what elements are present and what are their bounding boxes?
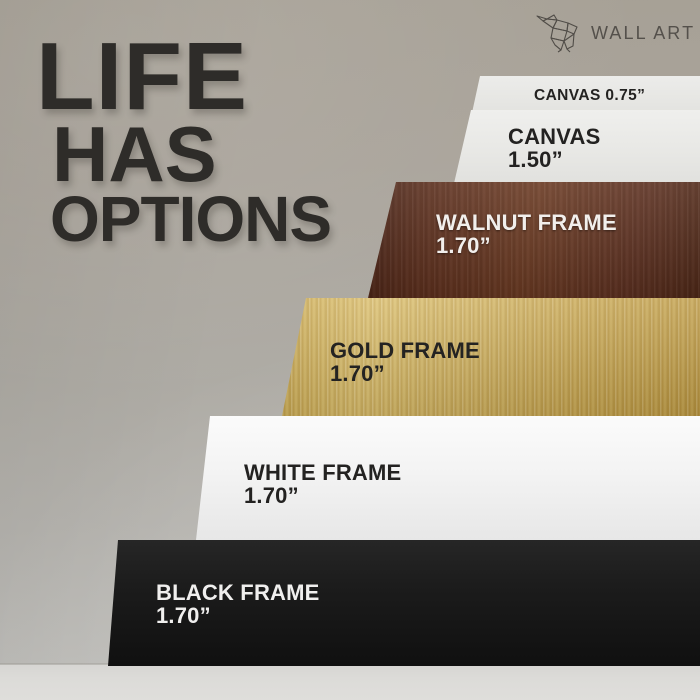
option-label-walnut-frame: WALNUT FRAME 1.70” [436,212,617,258]
product-options-infographic: WALL ART LIFE HAS OPTIONS CANVAS 0.75” C… [0,0,700,700]
option-slab-gold-frame[interactable]: GOLD FRAME 1.70” [282,298,700,416]
brand-name: WALL ART [591,23,695,44]
headline-line-2: HAS [52,121,331,188]
background-floor [0,664,700,700]
option-label-black-frame: BLACK FRAME 1.70” [156,582,320,628]
option-slab-black-frame[interactable]: BLACK FRAME 1.70” [108,540,700,666]
option-slab-walnut-frame[interactable]: WALNUT FRAME 1.70” [368,182,700,298]
origami-goat-icon [534,12,582,54]
brand-logo: WALL ART [534,12,695,54]
option-label-white-frame: WHITE FRAME 1.70” [244,462,401,508]
option-slab-canvas-150[interactable]: CANVAS 1.50” [452,110,700,192]
option-slab-white-frame[interactable]: WHITE FRAME 1.70” [196,416,700,540]
option-label-canvas-075: CANVAS 0.75” [534,88,645,104]
page-title: LIFE HAS OPTIONS [36,36,331,247]
headline-line-3: OPTIONS [50,192,331,247]
headline-line-1: LIFE [36,36,331,119]
option-label-canvas-150: CANVAS 1.50” [508,126,600,172]
option-label-gold-frame: GOLD FRAME 1.70” [330,340,480,386]
